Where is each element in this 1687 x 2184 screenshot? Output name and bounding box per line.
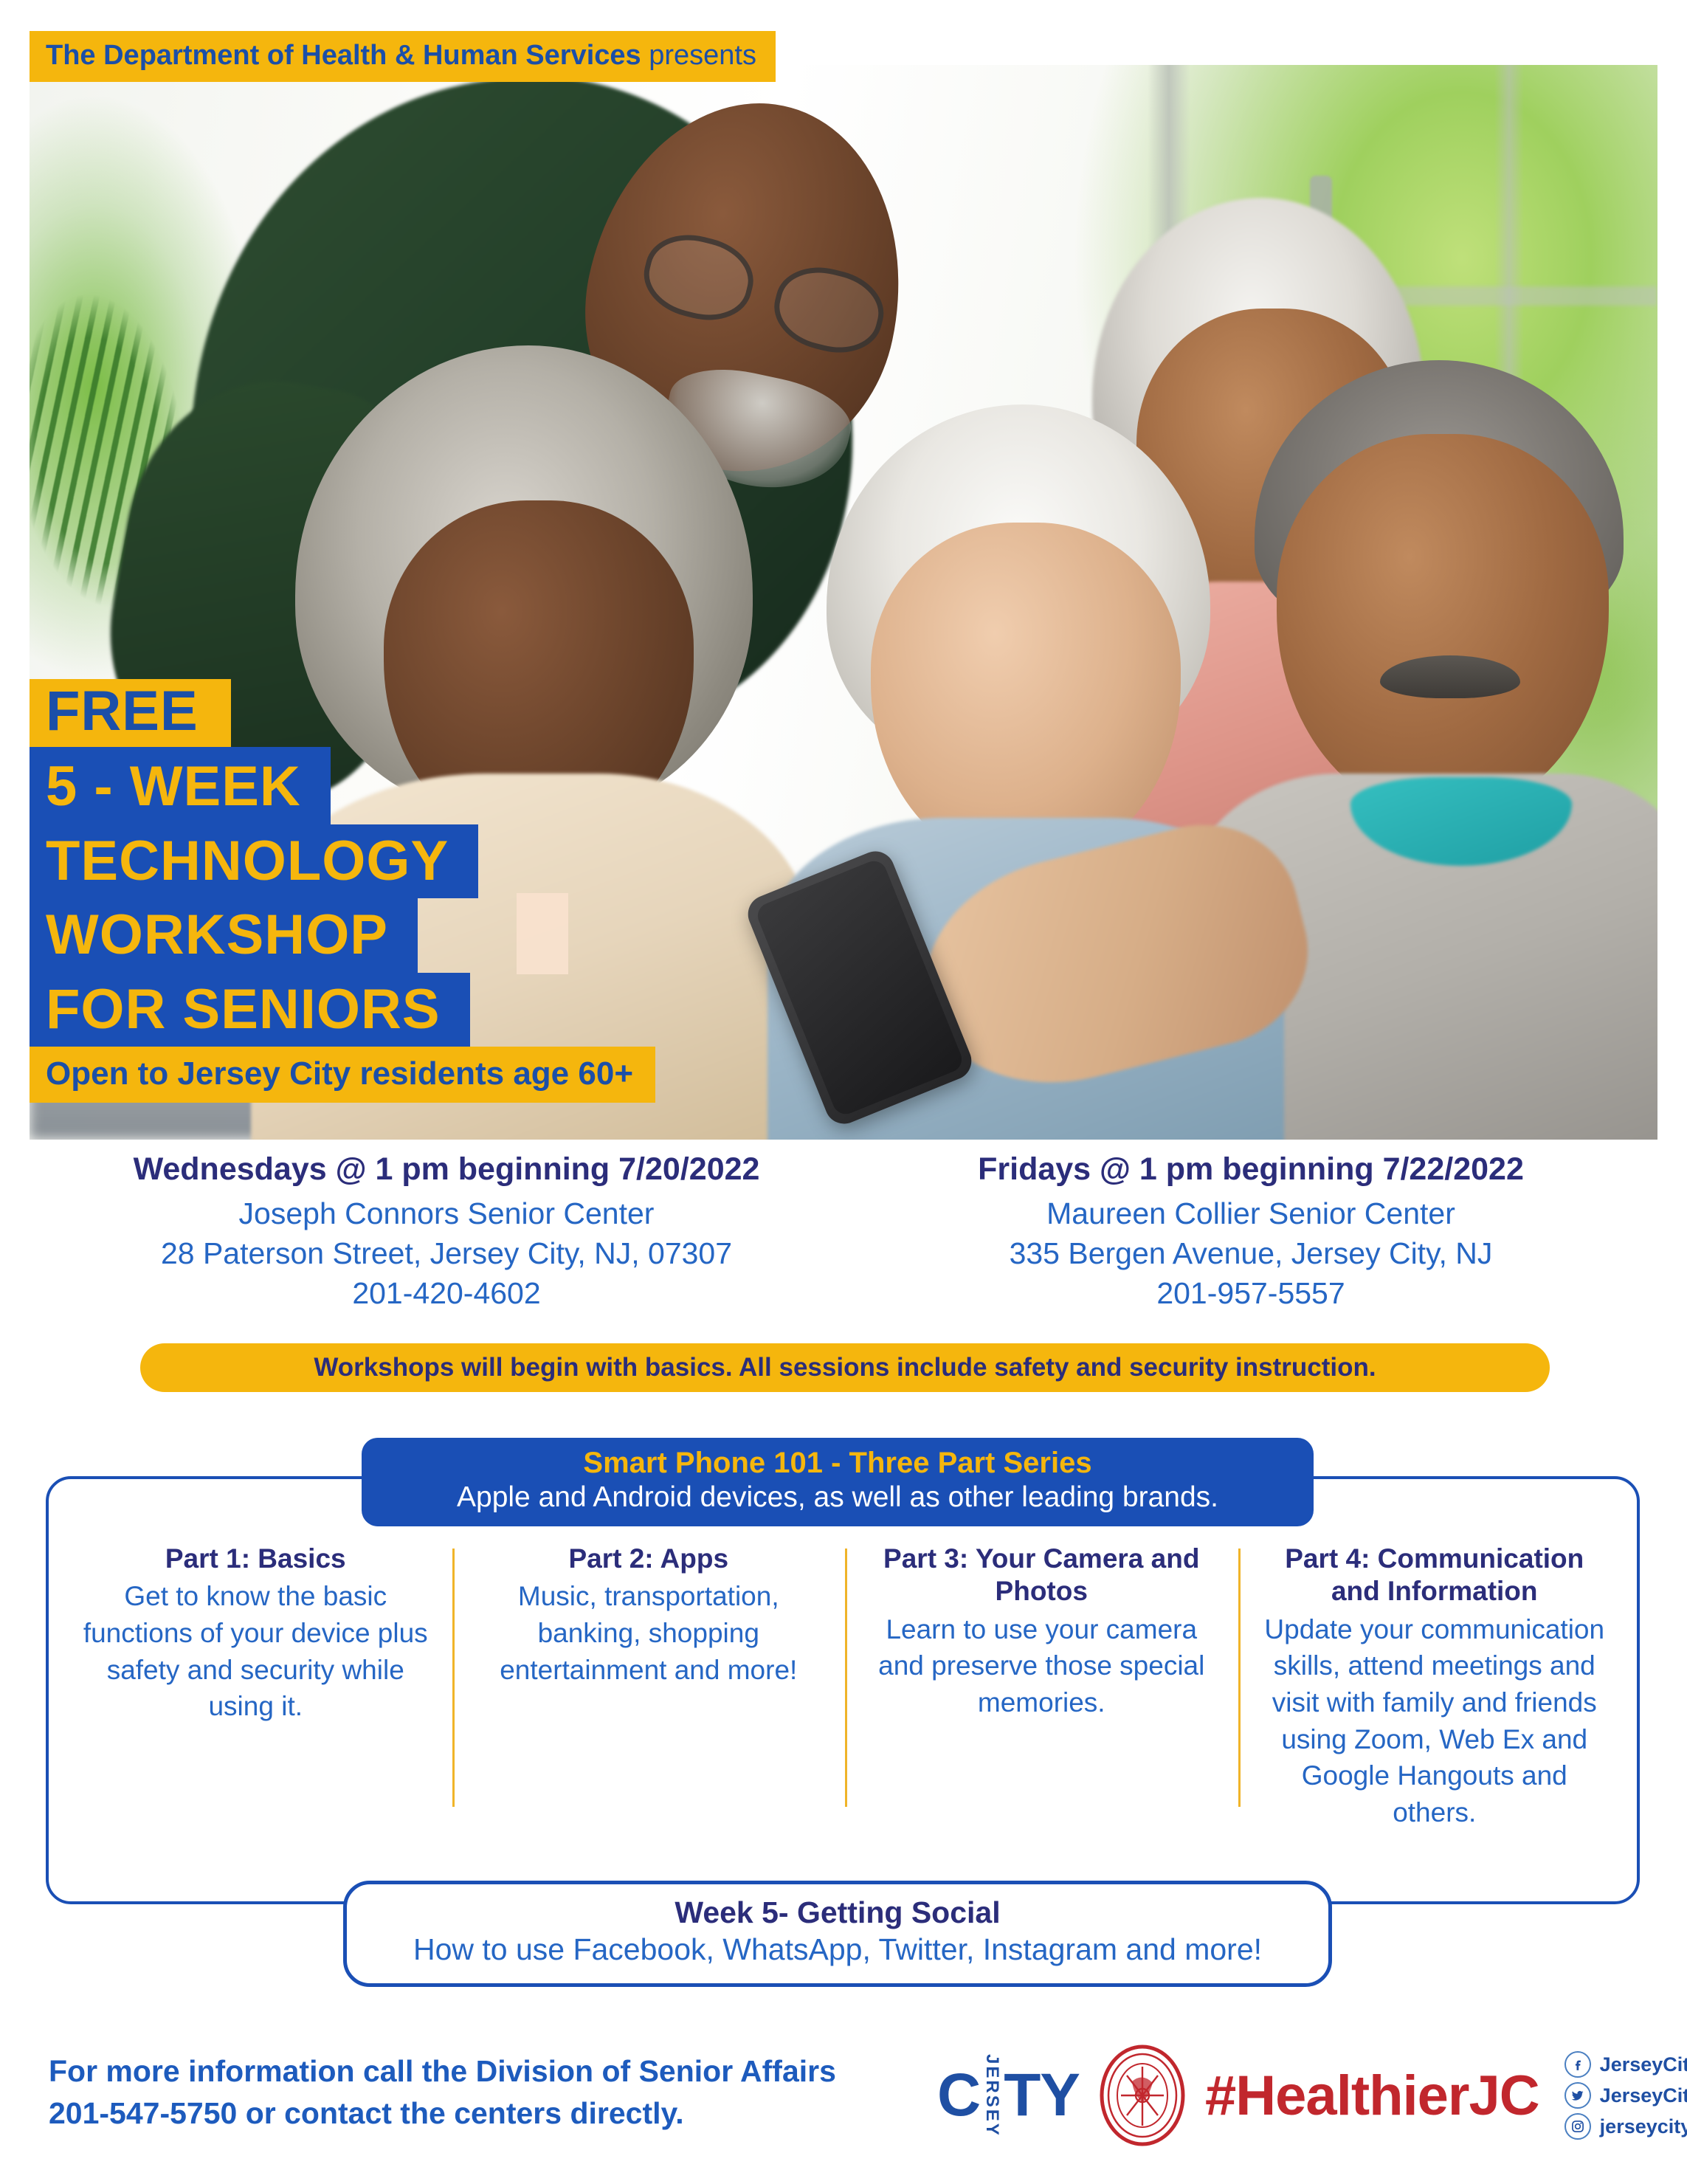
- social-row-instagram[interactable]: jerseycitynj: [1564, 2113, 1687, 2140]
- schedule-section: Wednesdays @ 1 pm beginning 7/20/2022 Jo…: [44, 1151, 1653, 1313]
- eligibility-banner: Open to Jersey City residents age 60+: [30, 1047, 655, 1103]
- department-name: The Department of Health & Human Service…: [46, 40, 641, 71]
- title-line-3: WORKSHOP: [30, 898, 418, 973]
- title-line-1: 5 - WEEK: [30, 747, 331, 824]
- facebook-handle: JerseyCityNJ: [1600, 2053, 1687, 2076]
- schedule-column-friday: Fridays @ 1 pm beginning 7/22/2022 Maure…: [849, 1151, 1653, 1313]
- schedule-center-name: Joseph Connors Senior Center: [44, 1193, 849, 1233]
- footer-logos: C JERSEY TY #HealthierJC: [937, 2045, 1687, 2146]
- schedule-center-name: Maureen Collier Senior Center: [849, 1193, 1653, 1233]
- title-block: FREE 5 - WEEK TECHNOLOGY WORKSHOP FOR SE…: [30, 679, 655, 1103]
- schedule-phone[interactable]: 201-957-5557: [849, 1273, 1653, 1313]
- part-body: Learn to use your camera and preserve th…: [864, 1611, 1219, 1721]
- title-line-4: FOR SENIORS: [30, 973, 470, 1047]
- schedule-column-wednesday: Wednesdays @ 1 pm beginning 7/20/2022 Jo…: [44, 1151, 849, 1313]
- schedule-daytime: Fridays @ 1 pm beginning 7/22/2022: [849, 1151, 1653, 1188]
- schedule-daytime: Wednesdays @ 1 pm beginning 7/20/2022: [44, 1151, 849, 1188]
- series-header: Smart Phone 101 - Three Part Series Appl…: [362, 1438, 1314, 1526]
- schedule-address: 335 Bergen Avenue, Jersey City, NJ: [849, 1233, 1653, 1273]
- footer-info-line-2: 201-547-5750 or contact the centers dire…: [49, 2092, 836, 2135]
- poster: The Department of Health & Human Service…: [0, 0, 1687, 2184]
- title-free: FREE: [30, 679, 231, 747]
- part-title: Part 3: Your Camera and Photos: [864, 1543, 1219, 1608]
- part-column-4: Part 4: Communication and Information Up…: [1238, 1543, 1632, 1830]
- footer-info: For more information call the Division o…: [49, 2050, 836, 2134]
- part-title: Part 1: Basics: [78, 1543, 433, 1575]
- presents-label: presents: [641, 40, 756, 71]
- schedule-phone[interactable]: 201-420-4602: [44, 1273, 849, 1313]
- title-line-2: TECHNOLOGY: [30, 824, 478, 899]
- logo-letter-c: C: [937, 2061, 980, 2130]
- part-column-1: Part 1: Basics Get to know the basic fun…: [59, 1543, 452, 1830]
- schedule-address: 28 Paterson Street, Jersey City, NJ, 073…: [44, 1233, 849, 1273]
- series-subtitle: Apple and Android devices, as well as ot…: [376, 1481, 1299, 1515]
- week5-box: Week 5- Getting Social How to use Facebo…: [343, 1881, 1332, 1987]
- logo-word-jersey: JERSEY: [983, 2054, 1001, 2138]
- week5-subtitle: How to use Facebook, WhatsApp, Twitter, …: [362, 1931, 1314, 1968]
- parts-row: Part 1: Basics Get to know the basic fun…: [59, 1543, 1631, 1830]
- workshop-note-text: Workshops will begin with basics. All se…: [314, 1353, 1376, 1382]
- part-title: Part 4: Communication and Information: [1258, 1543, 1612, 1608]
- twitter-icon: [1564, 2082, 1591, 2109]
- city-seal-icon: [1099, 2045, 1186, 2146]
- social-row-twitter[interactable]: JerseyCity: [1564, 2082, 1687, 2109]
- workshop-note-banner: Workshops will begin with basics. All se…: [140, 1343, 1550, 1392]
- facebook-icon: [1564, 2051, 1591, 2078]
- part-body: Get to know the basic functions of your …: [78, 1578, 433, 1724]
- part-body: Update your communication skills, attend…: [1258, 1611, 1612, 1830]
- social-row-facebook[interactable]: JerseyCityNJ: [1564, 2051, 1687, 2078]
- part-title: Part 2: Apps: [472, 1543, 827, 1575]
- healthier-jc-hashtag: #HealthierJC: [1205, 2064, 1539, 2128]
- part-body: Music, transportation, banking, shopping…: [472, 1578, 827, 1688]
- part-column-3: Part 3: Your Camera and Photos Learn to …: [845, 1543, 1238, 1830]
- logo-letters-ty: TY: [1004, 2061, 1080, 2130]
- footer-info-line-1: For more information call the Division o…: [49, 2050, 836, 2092]
- week5-title: Week 5- Getting Social: [362, 1895, 1314, 1931]
- twitter-handle: JerseyCity: [1600, 2084, 1687, 2107]
- series-title: Smart Phone 101 - Three Part Series: [376, 1447, 1299, 1481]
- jersey-city-logo: C JERSEY TY: [937, 2054, 1080, 2138]
- social-links: JerseyCityNJ JerseyCity: [1564, 2051, 1687, 2140]
- instagram-icon: [1564, 2113, 1591, 2140]
- department-banner: The Department of Health & Human Service…: [30, 31, 776, 82]
- decorative-patch: [517, 893, 568, 974]
- part-column-2: Part 2: Apps Music, transportation, bank…: [452, 1543, 846, 1830]
- instagram-handle: jerseycitynj: [1600, 2115, 1687, 2138]
